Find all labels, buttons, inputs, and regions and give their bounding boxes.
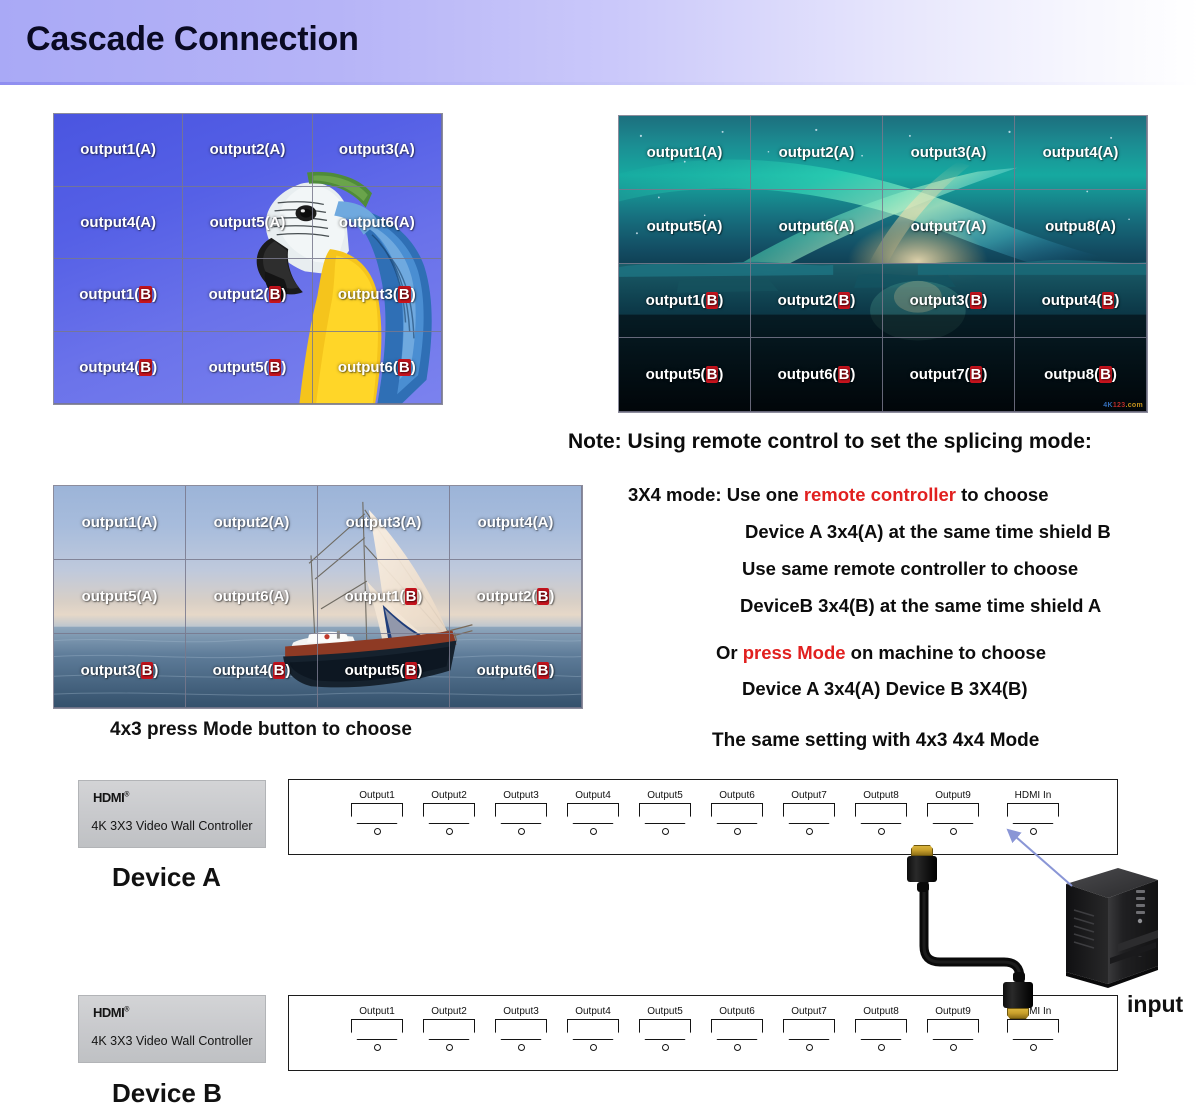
- tile-group-b-badge: B: [139, 286, 152, 303]
- tile-label: output4(B): [1042, 292, 1120, 309]
- wall-tile: output5(A): [183, 187, 312, 260]
- video-wall-4x3-sailboat: output1(A) output2(A) output3(A) output4…: [53, 485, 583, 709]
- wall-tile: output7(B): [883, 338, 1015, 412]
- tile-label: output1(A): [82, 514, 158, 531]
- tile-label: output5(B): [209, 359, 287, 376]
- header-divider: [0, 82, 1200, 85]
- tile-label: output4(B): [213, 662, 291, 679]
- tile-label: output4(B): [79, 359, 157, 376]
- port-label: Output3: [495, 1006, 547, 1017]
- device-b-model-text: 4K 3X3 Video Wall Controller: [79, 1034, 265, 1048]
- port-label: Output7: [783, 1006, 835, 1017]
- device-b-port-output6[interactable]: Output6: [711, 1006, 763, 1051]
- port-label: Output5: [639, 1006, 691, 1017]
- wall-tile: output4(A): [54, 187, 183, 260]
- hdmi-jack-icon[interactable]: [855, 803, 907, 824]
- device-a-port-output6[interactable]: Output6: [711, 790, 763, 835]
- tile-label: output3(B): [910, 292, 988, 309]
- port-label: HDMI In: [1007, 790, 1059, 801]
- device-a-port-output4[interactable]: Output4: [567, 790, 619, 835]
- device-a-port-output9[interactable]: Output9: [927, 790, 979, 835]
- hdmi-jack-icon[interactable]: [351, 803, 403, 824]
- tile-group-b-badge: B: [838, 292, 851, 309]
- port-label: Output5: [639, 790, 691, 801]
- screw-icon: [878, 828, 885, 835]
- port-label: Output2: [423, 1006, 475, 1017]
- device-a-port-output2[interactable]: Output2: [423, 790, 475, 835]
- note-line-1-post: to choose: [956, 484, 1049, 505]
- hdmi-jack-icon[interactable]: [1007, 803, 1059, 824]
- port-label: Output3: [495, 790, 547, 801]
- tile-group-b-badge: B: [537, 588, 550, 605]
- tile-label: output1(A): [80, 141, 156, 158]
- tile-group-b-badge: B: [1102, 292, 1115, 309]
- tile-group-b-badge: B: [398, 359, 411, 376]
- hdmi-brand-text: HDMI: [93, 1005, 124, 1020]
- screw-icon: [950, 1044, 957, 1051]
- hdmi-jack-icon[interactable]: [711, 803, 763, 824]
- hdmi-jack-icon[interactable]: [711, 1019, 763, 1040]
- svg-text:_: _: [1138, 952, 1142, 958]
- page-header: Cascade Connection: [0, 0, 1200, 82]
- tile-label: output2(A): [214, 514, 290, 531]
- hdmi-jack-icon[interactable]: [639, 1019, 691, 1040]
- note-line-3: Use same remote controller to choose: [742, 558, 1078, 580]
- tile-group-b-badge: B: [405, 588, 418, 605]
- screw-icon: [734, 1044, 741, 1051]
- note-line-2: Device A 3x4(A) at the same time shield …: [745, 521, 1111, 543]
- device-b-port-output5[interactable]: Output5: [639, 1006, 691, 1051]
- wall-tile: output5(B): [318, 634, 450, 708]
- wall-tile: output1(A): [54, 114, 183, 187]
- hdmi-plug-neck: [917, 882, 929, 892]
- tile-group-b-badge: B: [398, 286, 411, 303]
- hdmi-plug-body: [907, 856, 937, 882]
- wall-tile: output2(B): [450, 560, 582, 634]
- wall-tile: output5(A): [619, 190, 751, 264]
- tile-label: output7(B): [910, 366, 988, 383]
- hdmi-jack-icon[interactable]: [495, 1019, 547, 1040]
- hdmi-jack-icon[interactable]: [495, 803, 547, 824]
- tile-group-b-badge: B: [273, 662, 286, 679]
- tile-label: output1(B): [345, 588, 423, 605]
- hdmi-plug-neck: [1013, 972, 1025, 982]
- tile-label: output5(A): [82, 588, 158, 605]
- note-line-7: The same setting with 4x3 4x4 Mode: [712, 730, 1039, 752]
- device-b-port-output2[interactable]: Output2: [423, 1006, 475, 1051]
- note-line-5-post: on machine to choose: [846, 642, 1046, 663]
- screw-icon: [446, 1044, 453, 1051]
- screw-icon: [662, 828, 669, 835]
- device-b-port-output7[interactable]: Output7: [783, 1006, 835, 1051]
- wall-tile: output1(A): [54, 486, 186, 560]
- tile-label: output6(A): [214, 588, 290, 605]
- hdmi-jack-icon[interactable]: [423, 803, 475, 824]
- tile-label: output4(A): [1043, 144, 1119, 161]
- screw-icon: [878, 1044, 885, 1051]
- tile-label: output5(B): [646, 366, 724, 383]
- tile-label: outpu8(B): [1044, 366, 1117, 383]
- device-b-port-output1[interactable]: Output1: [351, 1006, 403, 1051]
- tile-group-b-badge: B: [970, 292, 983, 309]
- wall-tile: output3(B): [54, 634, 186, 708]
- port-label: Output7: [783, 790, 835, 801]
- wall-tile: output5(B): [619, 338, 751, 412]
- tile-group-b-badge: B: [970, 366, 983, 383]
- tile-label: output3(B): [338, 286, 416, 303]
- screw-icon: [446, 828, 453, 835]
- screw-icon: [518, 828, 525, 835]
- wall-tile: output5(B): [183, 332, 312, 405]
- device-a-model-text: 4K 3X3 Video Wall Controller: [79, 819, 265, 833]
- tile-label: output2(B): [209, 286, 287, 303]
- wall-tile: output6(A): [751, 190, 883, 264]
- wall-tile: output6(A): [313, 187, 442, 260]
- tile-label: output6(A): [779, 218, 855, 235]
- hdmi-registered-mark: ®: [124, 792, 129, 799]
- wall-tile: outpu8(A): [1015, 190, 1147, 264]
- wall-tile: output1(A): [619, 116, 751, 190]
- tile-group-b-badge: B: [838, 366, 851, 383]
- hdmi-plug-lower: [1004, 972, 1033, 1019]
- note-line-4: DeviceB 3x4(B) at the same time shield A: [740, 595, 1101, 617]
- wall-tile: output4(B): [54, 332, 183, 405]
- hdmi-jack-icon[interactable]: [639, 803, 691, 824]
- tile-label: output1(B): [79, 286, 157, 303]
- wall-tile: output2(A): [183, 114, 312, 187]
- screw-icon: [374, 828, 381, 835]
- tile-label: output3(A): [911, 144, 987, 161]
- tile-label: output6(B): [778, 366, 856, 383]
- wall-tile: output1(B): [318, 560, 450, 634]
- wall-tile: output1(B): [54, 259, 183, 332]
- wall-tile: output6(B): [751, 338, 883, 412]
- tile-group-b-badge: B: [269, 286, 282, 303]
- hdmi-jack-icon[interactable]: [351, 1019, 403, 1040]
- device-a-rear-panel: Output1 Output2 Output3 Output4 Output5 …: [288, 779, 1118, 855]
- video-wall-4x4-aurora: output1(A) output2(A) output3(A) output4…: [618, 115, 1148, 413]
- tile-group-b-badge: B: [141, 662, 154, 679]
- hdmi-jack-icon[interactable]: [927, 803, 979, 824]
- tile-label: output2(B): [477, 588, 555, 605]
- note-line-1: 3X4 mode: Use one remote controller to c…: [628, 484, 1048, 506]
- hdmi-brand-text: HDMI: [93, 790, 124, 805]
- hdmi-jack-icon[interactable]: [783, 803, 835, 824]
- wall-tile: output2(A): [751, 116, 883, 190]
- screw-icon: [374, 1044, 381, 1051]
- wall-tile: output1(B): [619, 264, 751, 338]
- port-label: Output6: [711, 790, 763, 801]
- input-label: input: [1127, 991, 1183, 1018]
- wall-tile: output2(B): [751, 264, 883, 338]
- tile-label: output5(B): [345, 662, 423, 679]
- pc-to-hdmi-in-arrow-icon: [1000, 824, 1080, 894]
- wall-tile: output4(B): [186, 634, 318, 708]
- tile-group-b-badge: B: [405, 662, 418, 679]
- hdmi-plug-metal-icon: [911, 845, 933, 856]
- tile-label: output1(A): [647, 144, 723, 161]
- hdmi-jack-icon[interactable]: [423, 1019, 475, 1040]
- wall3-caption: 4x3 press Mode button to choose: [110, 719, 412, 741]
- wall-tile: output7(A): [883, 190, 1015, 264]
- port-label: Output6: [711, 1006, 763, 1017]
- port-label: Output4: [567, 1006, 619, 1017]
- device-b-port-output4[interactable]: Output4: [567, 1006, 619, 1051]
- screw-icon: [590, 1044, 597, 1051]
- device-a-label: Device A: [112, 862, 221, 893]
- hdmi-plug-upper: [908, 845, 937, 892]
- screw-icon: [590, 828, 597, 835]
- screw-icon: [1030, 1044, 1037, 1051]
- wall2-watermark: 4K123.com: [1103, 402, 1143, 409]
- wall-tile: outpu8(B): [1015, 338, 1147, 412]
- device-b-label: Device B: [112, 1078, 222, 1109]
- tile-label: output2(A): [779, 144, 855, 161]
- video-wall-3x4-parrot: output1(A) output2(A) output3(A) output4…: [53, 113, 443, 405]
- tile-group-b-badge: B: [1099, 366, 1112, 383]
- device-a-port-output1[interactable]: Output1: [351, 790, 403, 835]
- hdmi-jack-icon[interactable]: [567, 1019, 619, 1040]
- hdmi-registered-mark: ®: [124, 1007, 129, 1014]
- port-label: Output1: [351, 1006, 403, 1017]
- port-label: Output9: [927, 790, 979, 801]
- wall-tile: output2(A): [186, 486, 318, 560]
- wall-tile: output3(B): [313, 259, 442, 332]
- page-title: Cascade Connection: [26, 20, 359, 59]
- screw-icon: [734, 828, 741, 835]
- note-line-5-pre: Or: [716, 642, 743, 663]
- wall-tile: output6(B): [313, 332, 442, 405]
- hdmi-plug-metal-icon: [1007, 1008, 1029, 1019]
- tile-label: output4(A): [478, 514, 554, 531]
- device-a-port-output3[interactable]: Output3: [495, 790, 547, 835]
- note-line-1-highlight: remote controller: [804, 484, 956, 505]
- tile-label: output4(A): [80, 214, 156, 231]
- tile-label: output3(B): [81, 662, 159, 679]
- tile-label: output5(A): [210, 214, 286, 231]
- port-label: Output2: [423, 790, 475, 801]
- tile-label: outpu8(A): [1045, 218, 1116, 235]
- hdmi-logo-icon: HDMI®: [93, 1005, 129, 1020]
- device-a-port-output5[interactable]: Output5: [639, 790, 691, 835]
- wall-tile: output5(A): [54, 560, 186, 634]
- tile-label: output1(B): [646, 292, 724, 309]
- note-line-5: Or press Mode on machine to choose: [716, 642, 1046, 664]
- screw-icon: [806, 1044, 813, 1051]
- port-label: Output1: [351, 790, 403, 801]
- screw-icon: [950, 828, 957, 835]
- device-a-front-panel: HDMI® 4K 3X3 Video Wall Controller: [78, 780, 266, 848]
- hdmi-plug-body: [1003, 982, 1033, 1008]
- device-b-port-output3[interactable]: Output3: [495, 1006, 547, 1051]
- wall-tile: output4(A): [450, 486, 582, 560]
- port-label: Output4: [567, 790, 619, 801]
- device-a-port-output8[interactable]: Output8: [855, 790, 907, 835]
- tile-label: output3(A): [339, 141, 415, 158]
- tile-label: output6(B): [477, 662, 555, 679]
- tile-label: output5(A): [647, 218, 723, 235]
- screw-icon: [518, 1044, 525, 1051]
- tile-label: output6(A): [339, 214, 415, 231]
- wall-tile: output6(A): [186, 560, 318, 634]
- hdmi-jack-icon[interactable]: [567, 803, 619, 824]
- tile-label: output2(B): [778, 292, 856, 309]
- note-line-5-highlight: press Mode: [743, 642, 846, 663]
- wall-tile: output4(B): [1015, 264, 1147, 338]
- tile-group-b-badge: B: [269, 359, 282, 376]
- device-a-port-output7[interactable]: Output7: [783, 790, 835, 835]
- wall-tile: output3(A): [883, 116, 1015, 190]
- device-b-front-panel: HDMI® 4K 3X3 Video Wall Controller: [78, 995, 266, 1063]
- tile-label: output6(B): [338, 359, 416, 376]
- hdmi-jack-icon[interactable]: [783, 1019, 835, 1040]
- tile-group-b-badge: B: [706, 292, 719, 309]
- tile-label: output2(A): [210, 141, 286, 158]
- wall-tile: output3(A): [318, 486, 450, 560]
- wall-tile: output2(B): [183, 259, 312, 332]
- tile-label: output7(A): [911, 218, 987, 235]
- wall-tile: output4(A): [1015, 116, 1147, 190]
- wall-tile: output3(B): [883, 264, 1015, 338]
- note-heading: Note: Using remote control to set the sp…: [568, 430, 1092, 454]
- screw-icon: [662, 1044, 669, 1051]
- tile-group-b-badge: B: [706, 366, 719, 383]
- port-label: Output8: [855, 790, 907, 801]
- note-line-6: Device A 3x4(A) Device B 3X4(B): [742, 678, 1028, 700]
- wall-tile: output3(A): [313, 114, 442, 187]
- wall-tile: output6(B): [450, 634, 582, 708]
- tile-group-b-badge: B: [537, 662, 550, 679]
- tile-group-b-badge: B: [139, 359, 152, 376]
- note-line-1-pre: 3X4 mode: Use one: [628, 484, 804, 505]
- tile-label: output3(A): [346, 514, 422, 531]
- hdmi-logo-icon: HDMI®: [93, 790, 129, 805]
- screw-icon: [806, 828, 813, 835]
